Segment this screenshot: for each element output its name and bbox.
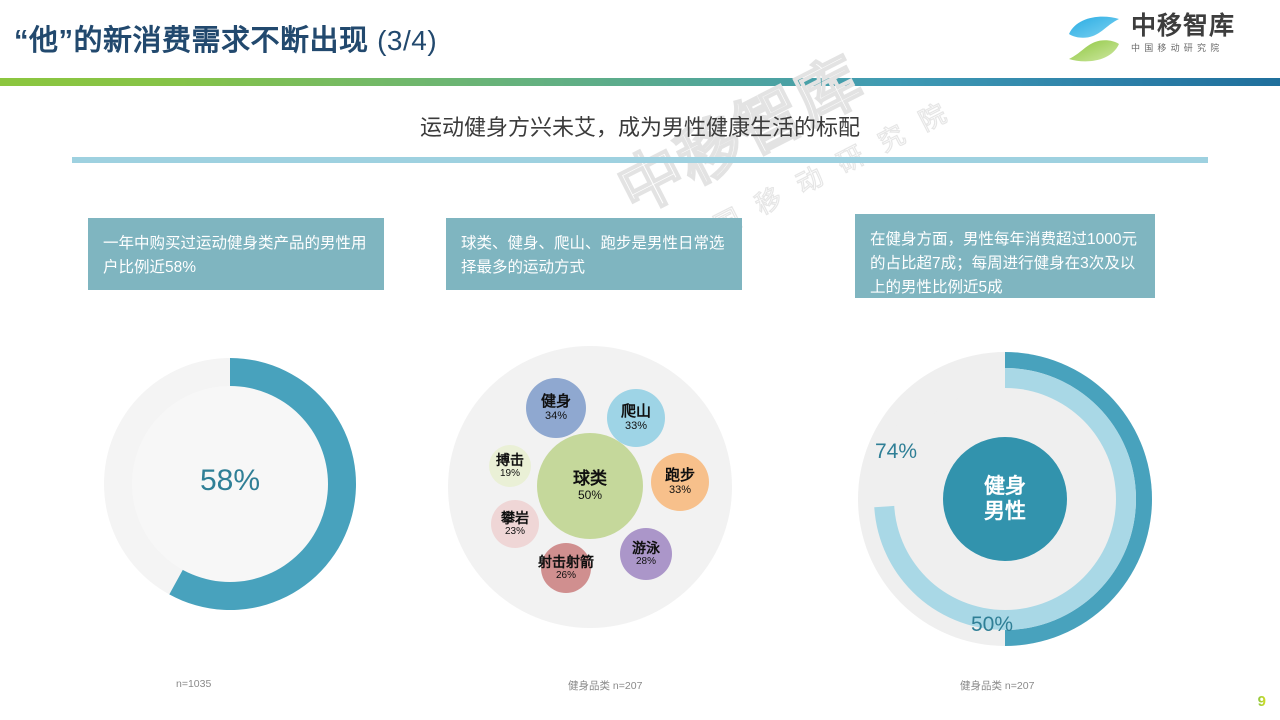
bubble-label: 搏击 [496, 453, 524, 468]
logo-swoosh-icon [1063, 12, 1125, 66]
subtitle-underline [72, 157, 1208, 163]
page-number: 9 [1258, 693, 1266, 710]
callout-box-2: 球类、健身、爬山、跑步是男性日常选择最多的运动方式 [446, 218, 742, 290]
bubble-label: 射击射箭 [538, 555, 594, 570]
bubble-value: 50% [578, 489, 602, 502]
footnote-1: n=1035 [176, 678, 211, 690]
bubble-value: 19% [500, 468, 520, 479]
bubble-2: 健身34% [526, 378, 586, 438]
bubble-label: 攀岩 [501, 511, 529, 526]
section-subtitle: 运动健身方兴未艾，成为男性健康生活的标配 [0, 110, 1280, 142]
logo-subtitle: 中国移动研究院 [1131, 42, 1235, 55]
donut-center-value: 58% [200, 464, 260, 497]
logo-name: 中移智库 [1131, 12, 1235, 40]
bubble-3: 爬山33% [607, 389, 665, 447]
page-title-main: “他”的新消费需求不断出现 [14, 25, 369, 57]
bubble-1: 球类50% [537, 433, 643, 539]
bubble-7: 攀岩23% [491, 500, 539, 548]
bubble-8: 搏击19% [489, 445, 531, 487]
bubble-4: 跑步33% [651, 453, 709, 511]
callout-box-1: 一年中购买过运动健身类产品的男性用户比例近58% [88, 218, 384, 290]
ring-center-line-1: 健身 [858, 474, 1152, 499]
bubble-value: 34% [545, 410, 567, 422]
donut-chart-purchase-rate: 58% [104, 358, 356, 610]
bubble-value: 26% [556, 570, 576, 581]
bubble-5: 游泳28% [620, 528, 672, 580]
logo-text: 中移智库 中国移动研究院 [1131, 12, 1235, 55]
page-title-index: (3/4) [377, 25, 437, 56]
footnote-3: 健身品类 n=207 [960, 678, 1034, 693]
donut-center-label: 58% [104, 464, 356, 498]
ring-label-50: 50% [971, 613, 1013, 637]
bubble-value: 28% [636, 556, 656, 567]
bubble-value: 33% [625, 420, 647, 432]
bubble-label: 球类 [573, 470, 607, 488]
bubble-chart-sports: 球类50%健身34%爬山33%跑步33%游泳28%射击射箭26%攀岩23%搏击1… [448, 346, 732, 628]
slide-header: “他”的新消费需求不断出现 (3/4) [0, 0, 1280, 78]
bubble-label: 健身 [541, 394, 571, 410]
bubble-label: 跑步 [665, 468, 695, 484]
ring-center-label: 健身 男性 [858, 474, 1152, 524]
bubble-label: 游泳 [632, 541, 660, 556]
bubble-value: 23% [505, 526, 525, 537]
footnote-2: 健身品类 n=207 [568, 678, 642, 693]
header-gradient-rule [0, 78, 1280, 86]
ring-center-line-2: 男性 [858, 499, 1152, 524]
bubble-label: 爬山 [621, 404, 651, 420]
callout-box-3: 在健身方面，男性每年消费超过1000元的占比超7成；每周进行健身在3次及以上的男… [855, 214, 1155, 298]
ring-label-74: 74% [875, 440, 917, 464]
brand-logo: 中移智库 中国移动研究院 [1063, 10, 1268, 68]
bubble-value: 33% [669, 484, 691, 496]
page-title: “他”的新消费需求不断出现 (3/4) [14, 17, 437, 59]
donut-chart-fitness-male: 健身 男性 [858, 352, 1152, 646]
slide: “他”的新消费需求不断出现 (3/4) [0, 0, 1280, 720]
bubble-6: 射击射箭26% [541, 543, 591, 593]
